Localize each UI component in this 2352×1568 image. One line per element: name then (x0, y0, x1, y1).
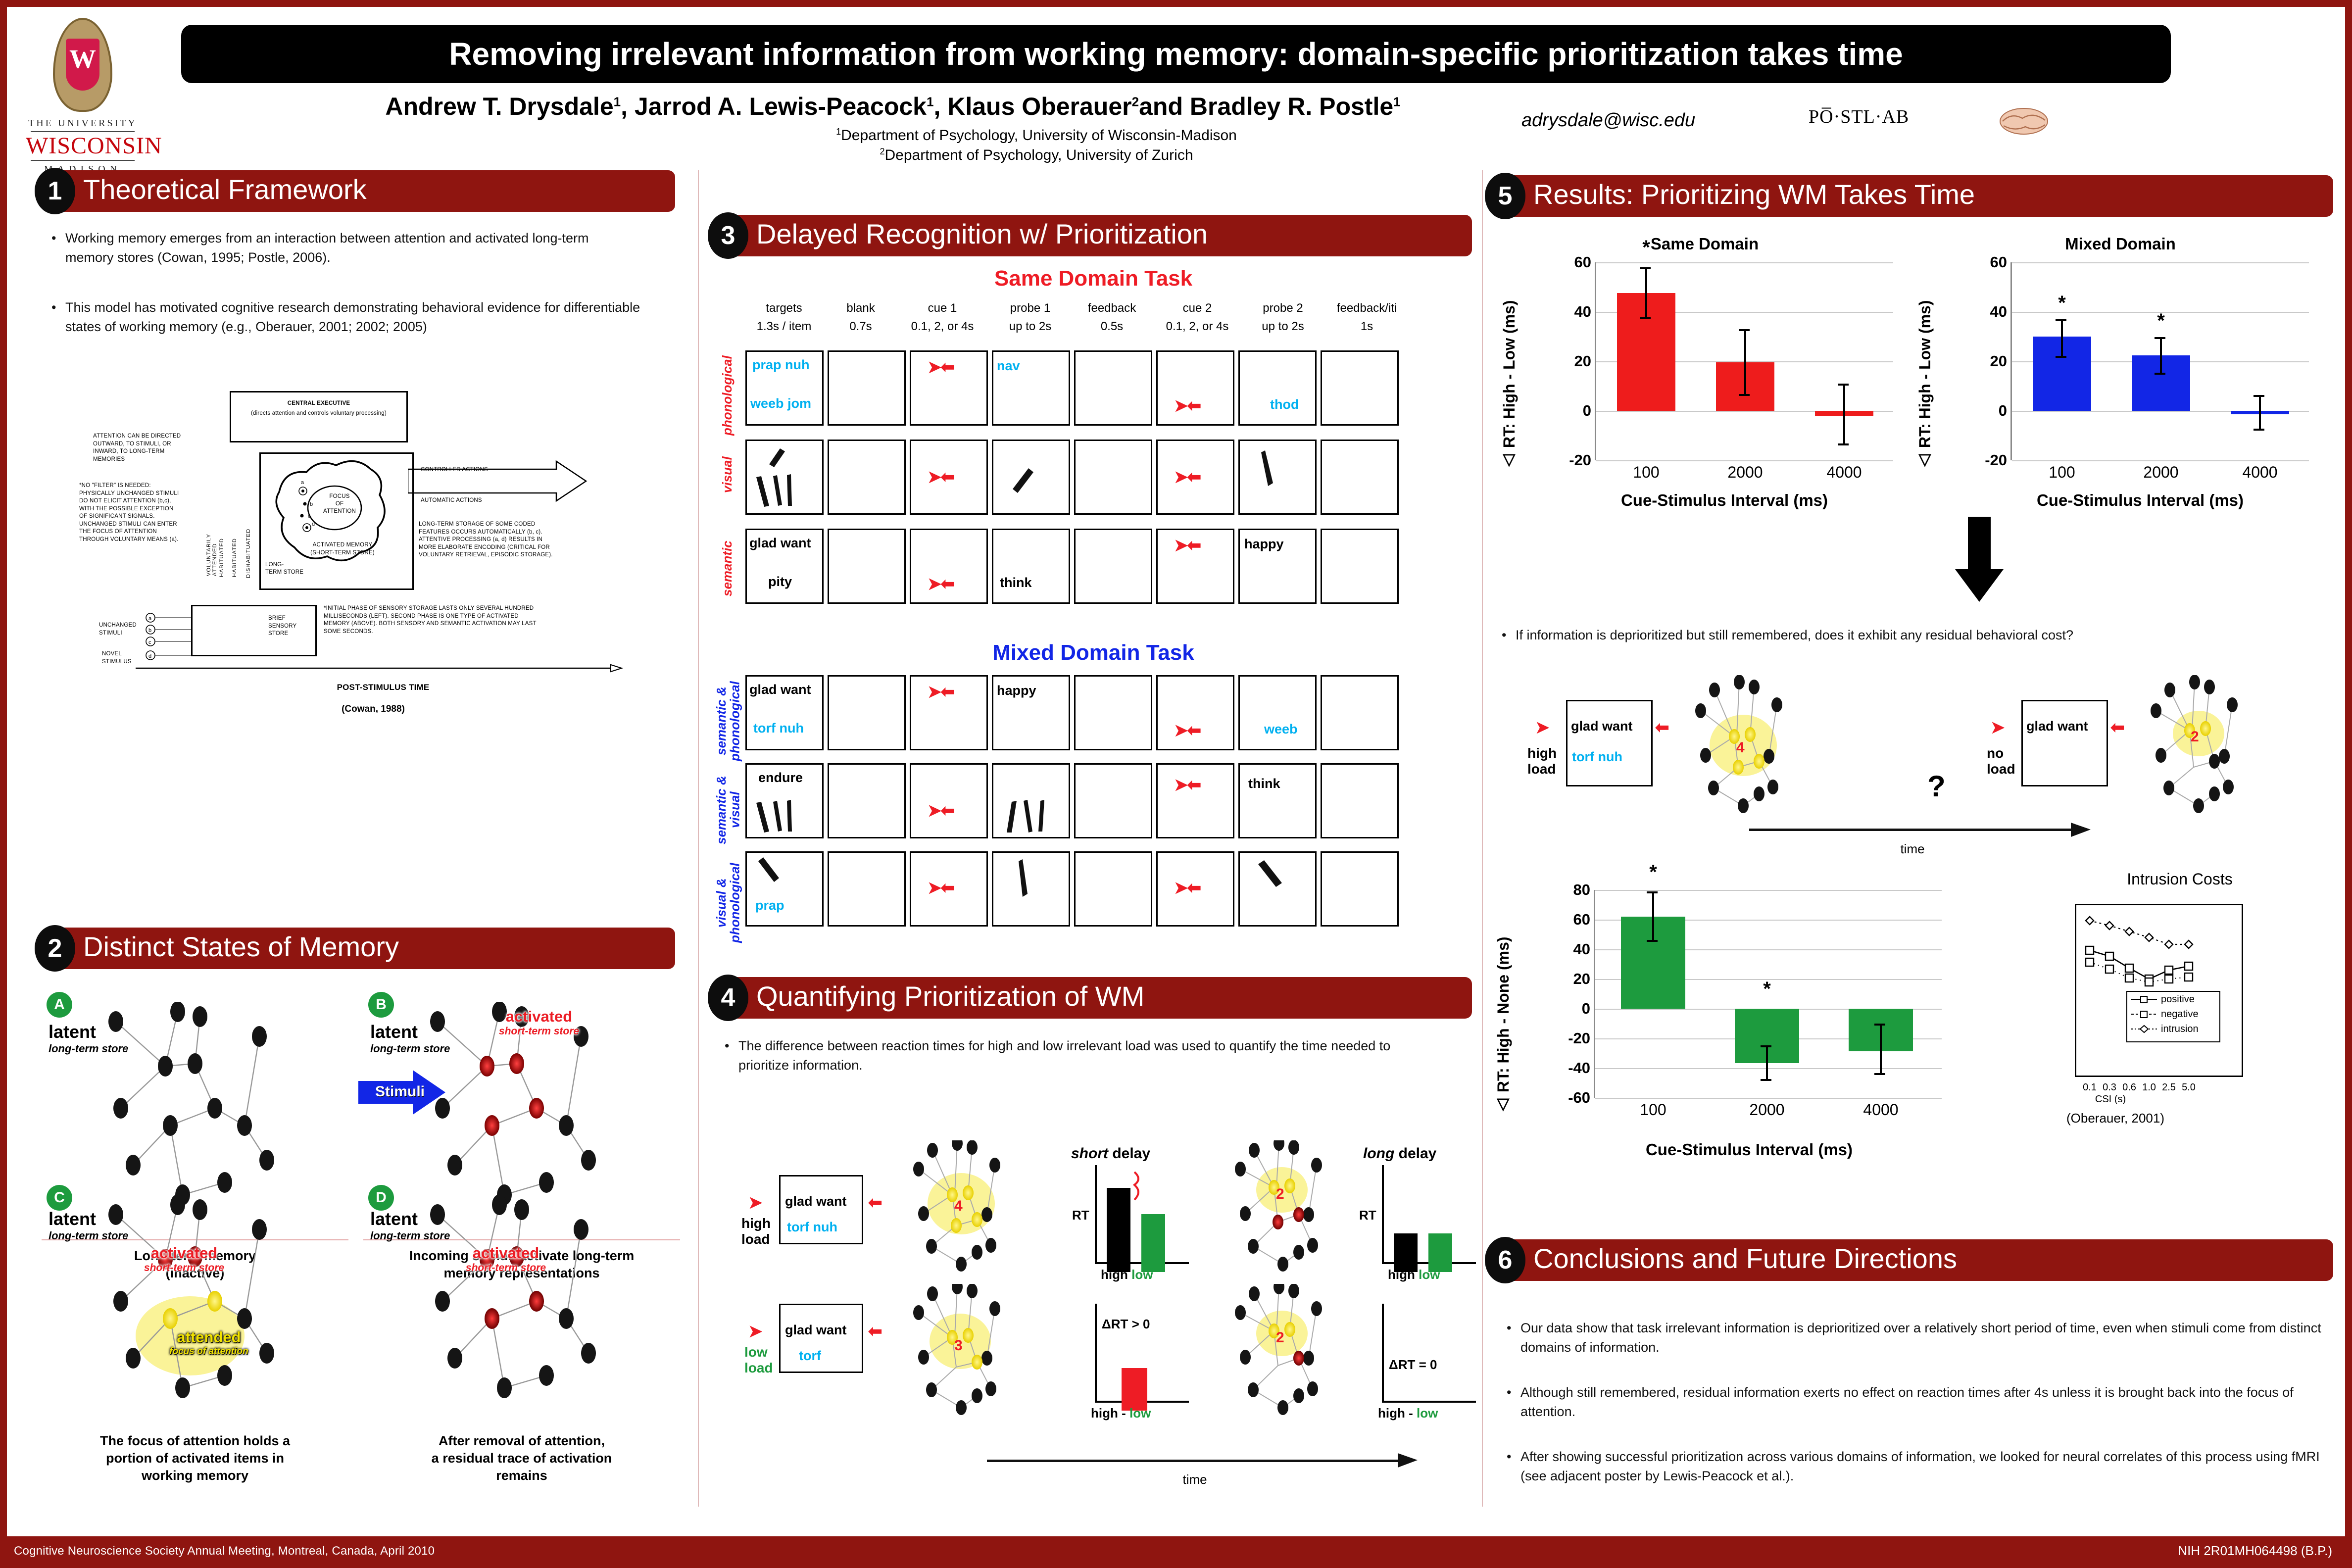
col-header-probe-1: probe 1up to 2s (989, 299, 1071, 336)
mixed-r1-probe2: weeb (1264, 722, 1298, 737)
same-r1-c8 (1321, 350, 1399, 426)
no-filter-note: *NO "FILTER" IS NEEDED: PHYSICALLY UNCHA… (79, 482, 183, 543)
mixed-r1-cue2-arrows: ➤⬅ (1174, 721, 1200, 740)
brief-sensory-store-label: BRIEFSENSORYSTORE (268, 615, 296, 638)
mixed-r3-c8 (1321, 851, 1399, 927)
section-4-title: Quantifying Prioritization of WM (756, 980, 1144, 1012)
controlled-actions-label: CONTROLLED ACTIONS (421, 466, 488, 474)
svg-text:a: a (148, 616, 152, 622)
chart-3-ytick-0: 0 (1582, 1000, 1590, 1018)
s4-low-load-box (779, 1304, 863, 1373)
same-r1-probe1: nav (997, 358, 1020, 374)
chart-3-plot: 80 60 40 20 0 -20 -40 -60 * * 100 2000 4… (1594, 890, 1940, 1098)
row-label-semantic-visual: semantic &visual (715, 769, 742, 851)
chart-3-ytick-80: 80 (1573, 881, 1590, 899)
col-header-probe-2: probe 2up to 2s (1243, 299, 1323, 336)
section-1-title: Theoretical Framework (83, 173, 367, 205)
svg-text:a: a (301, 480, 304, 486)
activated-memory-label: ACTIVATED MEMORY(SHORT-TERM STORE) (293, 541, 392, 557)
chart-2-ylabel: △ RT: High - Low (ms) (1915, 258, 1934, 471)
s4-high-load-label: highload (741, 1216, 771, 1247)
panel-tag-c: C (47, 1185, 72, 1211)
mixed-r2-c5 (1074, 763, 1152, 838)
chart-1-ytick-20: 20 (1574, 352, 1591, 370)
panel-tag-b: B (368, 992, 394, 1018)
stimulus-letters: a b c d (136, 608, 200, 662)
mixed-r2-c8 (1321, 763, 1399, 838)
cowan-1988-diagram: CENTRAL EXECUTIVE (directs attention and… (61, 383, 685, 710)
same-r2-probe2-bar (1254, 447, 1294, 492)
s5-time-label: time (1749, 841, 2076, 857)
chart-1-title: Same Domain (1502, 235, 1908, 253)
row-label-visual-phonological: visual &phonological (715, 858, 742, 947)
s5-no-words-top: glad want (2026, 719, 2088, 734)
s5-high-load-box (1566, 700, 1653, 786)
section-4-number: 4 (708, 975, 748, 1021)
chart-3-xlabel: Cue-Stimulus Interval (ms) (1541, 1140, 1957, 1159)
chart-1-xlabel: Cue-Stimulus Interval (ms) (1541, 491, 1908, 510)
mixed-r2-c6 (1156, 763, 1234, 838)
mixed-r3-probe2-bar (1253, 860, 1298, 900)
s4-low-arrow-right: ⬅ (868, 1322, 882, 1341)
habituated-label-2: HABITUATED (232, 532, 238, 577)
chart-4-xtick-2: 0.3 (2103, 1082, 2116, 1093)
s4-short-delay-label: short delay (1071, 1145, 1150, 1162)
contact-email[interactable]: adrysdale@wisc.edu (1521, 110, 1695, 131)
same-r2-c8 (1321, 440, 1399, 515)
s4-low-long-count: 2 (1276, 1329, 1284, 1346)
s4-high-long-count: 2 (1276, 1186, 1284, 1202)
section-3-number: 3 (708, 212, 748, 259)
s5-no-load-label: noload (1987, 745, 2015, 777)
mixed-r2-cue2-arrows: ➤⬅ (1174, 775, 1200, 795)
panel-tag-a: A (47, 992, 72, 1018)
s4-high-arrow-right: ⬅ (868, 1193, 882, 1213)
chart-4-title: Intrusion Costs (2026, 870, 2333, 888)
chart-3-ytick-20: 20 (1573, 970, 1590, 988)
chart-3-ytick--60: -60 (1568, 1089, 1590, 1107)
poster-footer: Cognitive Neuroscience Society Annual Me… (0, 1536, 2352, 1568)
same-r3-target-bottom: pity (768, 574, 792, 589)
author-list: Andrew T. Drysdale1, Jarrod A. Lewis-Pea… (274, 92, 1512, 121)
mixed-r2-target-top: endure (758, 770, 803, 785)
mixed-r1-c2 (828, 675, 906, 750)
same-r2-c2 (828, 440, 906, 515)
s4-low-load-label: lowload (744, 1344, 773, 1376)
s4-bar-high-long (1394, 1233, 1418, 1272)
s4-network-low-long: 2 (1225, 1284, 1373, 1422)
chart-1-ytick-60: 60 (1574, 253, 1591, 271)
crest-letter: W (53, 44, 112, 74)
university-logo: W THE UNIVERSITY WISCONSIN MADISON (26, 18, 140, 175)
s4-low-words-bottom: torf (799, 1348, 821, 1364)
mixed-r2-probe2: think (1248, 776, 1280, 791)
mixed-r3-probe1-bar (1012, 857, 1046, 902)
panel-c-attended-label: attendedfocus of attention (154, 1328, 263, 1357)
mixed-r3-cue2-arrows: ➤⬅ (1174, 878, 1200, 898)
s5-question-bullet: •If information is deprioritized but sti… (1502, 626, 2313, 645)
poster-canvas: W THE UNIVERSITY WISCONSIN MADISON Remov… (7, 7, 2345, 1536)
s5-no-load-box (2021, 700, 2108, 786)
down-arrow-icon (1952, 517, 2007, 606)
s4-low-arrow-left: ➤ (748, 1322, 762, 1341)
svg-text:d: d (148, 653, 151, 659)
same-r1-c5 (1074, 350, 1152, 426)
mixed-r1-c7 (1238, 675, 1317, 750)
section-5-number: 5 (1485, 173, 1525, 219)
poster-title: Removing irrelevant information from wor… (181, 25, 2171, 83)
chart-2-ytick-60: 60 (1990, 253, 2007, 271)
same-domain-task-title: Same Domain Task (715, 266, 1472, 291)
same-r2-cue1-arrows: ➤⬅ (928, 467, 954, 487)
divider (31, 131, 135, 132)
mixed-r1-c5 (1074, 675, 1152, 750)
affiliation-2: Department of Psychology, University of … (885, 147, 1193, 163)
same-r1-c7 (1238, 350, 1317, 426)
brain-icon (1997, 104, 2051, 139)
same-r2-c5 (1074, 440, 1152, 515)
chart-mixed-domain: Mixed Domain △ RT: High - Low (ms) 60 40… (1917, 235, 2323, 532)
chart-intrusion-costs: Intrusion Costs positive (2026, 868, 2333, 1175)
section-4-header: 4 Quantifying Prioritization of WM (715, 977, 1472, 1019)
chart-1-xtick-2: 2000 (1727, 463, 1763, 482)
column-divider-2 (1482, 170, 1483, 1507)
panel-tag-d: D (368, 1185, 394, 1211)
unchanged-stimuli-label: UNCHANGEDSTIMULI (99, 622, 137, 637)
mixed-r1-probe1: happy (997, 683, 1036, 698)
same-r3-c5 (1074, 529, 1152, 604)
mixed-r2-probe1-bars (1002, 799, 1066, 838)
same-r3-probe1: think (1000, 575, 1032, 590)
memory-panel-d: D latentlong-term store (363, 1185, 690, 1482)
s1-bullet-2: •This model has motivated cognitive rese… (51, 298, 645, 337)
affiliation-1: Department of Psychology, University of … (841, 127, 1237, 144)
chart-2-ytick--20: -20 (1985, 451, 2007, 469)
mixed-domain-task-title: Mixed Domain Task (715, 640, 1472, 665)
sensory-storage-note: *INITIAL PHASE OF SENSORY STORAGE LASTS … (324, 605, 541, 636)
chart-3-xtick-3: 4000 (1863, 1101, 1898, 1119)
same-r1-target-top: prap nuh (752, 357, 810, 373)
postle-lab-logo: PO̅·STL·AB (1809, 106, 1909, 128)
chart-1-ytick--20: -20 (1569, 451, 1591, 469)
chart-4-source: (Oberauer, 2001) (1962, 1111, 2269, 1126)
chart-1-plot: 60 40 20 0 -20 * 100 2000 4000 (1595, 262, 1892, 460)
s5-question-mark: ? (1927, 769, 1946, 803)
same-r1-target-bottom: weeb jom (750, 396, 811, 411)
chart-2-xtick-2: 2000 (2143, 463, 2178, 482)
s4-bullet-1: •The difference between reaction times f… (725, 1036, 1437, 1075)
same-r2-cue2-arrows: ➤⬅ (1174, 467, 1200, 487)
section-1-number: 1 (35, 168, 75, 214)
memory-panel-c: C latentlong-term store (42, 1185, 358, 1482)
voluntarily-attended-label: VOLUNTARILY ATTENDED (206, 502, 218, 576)
chart-1-sig-100: * (1642, 237, 1650, 259)
s4-delta-chart-short: ΔRT > 0 high - low (1076, 1304, 1190, 1413)
panel-b-activated-label: activatedshort-term store (487, 1008, 591, 1037)
s6-bullet-1: •Our data show that task irrelevant info… (1507, 1319, 2323, 1357)
col-header-cue-2: cue 20.1, 2, or 4s (1153, 299, 1242, 336)
chart-4-xtick-1: 0.1 (2083, 1082, 2097, 1093)
mixed-r2-c2 (828, 763, 906, 838)
chart-1-ytick-0: 0 (1583, 402, 1591, 420)
memory-node-letters: a b c d (279, 472, 378, 541)
s4-network-high-long: 2 (1225, 1140, 1373, 1284)
section-3-header: 3 Delayed Recognition w/ Prioritization (715, 215, 1472, 256)
post-stimulus-time-label: POST-STIMULUS TIME (136, 682, 631, 693)
footer-conference: Cognitive Neuroscience Society Annual Me… (14, 1544, 435, 1558)
panel-d-activated-label: activatedshort-term store (456, 1244, 555, 1274)
affiliations: 1Department of Psychology, University of… (640, 126, 1432, 165)
same-r3-cue1-arrows: ➤⬅ (928, 574, 954, 594)
mixed-r1-target-top: glad want (749, 682, 811, 697)
chart-2-xtick-3: 4000 (2242, 463, 2277, 482)
same-r3-cue2-arrows: ➤⬅ (1174, 536, 1200, 555)
chart-1-xtick-1: 100 (1633, 463, 1659, 482)
s4-time-label: time (987, 1472, 1403, 1487)
s4-high-arrow-left: ➤ (748, 1193, 762, 1213)
section-6-number: 6 (1485, 1237, 1525, 1283)
cowan-citation: (Cowan, 1988) (61, 704, 685, 715)
uw-crest-icon: W (53, 18, 112, 112)
chart-2-plot: 60 40 20 0 -20 * * 100 2000 4000 (2010, 262, 2307, 460)
network-graph-c (71, 1195, 348, 1427)
same-r3-c8 (1321, 529, 1399, 604)
university-name: WISCONSIN (26, 134, 140, 158)
network-graph-d (393, 1195, 680, 1427)
chart-4-xtick-6: 5.0 (2182, 1082, 2196, 1093)
s6-bullet-2: •Although still remembered, residual inf… (1507, 1383, 2323, 1421)
same-r2-probe1-bar (1007, 462, 1046, 497)
chart-3-xtick-1: 100 (1640, 1101, 1666, 1119)
s5-time-arrowhead (2071, 821, 2094, 840)
s5-high-count: 4 (1736, 739, 1745, 756)
col-header-feedback-iti: feedback/iti1s (1321, 299, 1413, 336)
svg-text:b: b (148, 628, 151, 634)
stimuli-label: Stimuli (375, 1083, 425, 1100)
s5-network-high: 4 (1685, 675, 1833, 819)
s4-network-high-short: 4 (903, 1140, 1051, 1284)
chart-4-xtick-3: 0.6 (2122, 1082, 2136, 1093)
chart-2-xtick-1: 100 (2049, 463, 2075, 482)
section-2-header: 2 Distinct States of Memory (42, 928, 675, 969)
legend-item-positive: positive (2127, 992, 2219, 1007)
s5-high-arrow-right: ⬅ (1655, 718, 1668, 737)
brief-sensory-store-box (191, 605, 317, 656)
svg-text:c: c (308, 513, 311, 519)
s4-bar-high-short (1107, 1188, 1130, 1272)
mixed-r1-target-bottom: torf nuh (753, 721, 804, 736)
column-divider-1 (698, 170, 699, 1507)
s4-rt-chart-short: RT high low (1076, 1165, 1190, 1274)
mixed-r3-target-bottom: prap (755, 898, 784, 913)
row-label-semantic-phonological: semantic &phonological (715, 674, 742, 768)
s6-bullet-3: •After showing successful prioritization… (1507, 1447, 2323, 1486)
col-header-blank: blank0.7s (824, 299, 898, 336)
panel-d-caption: After removal of attention, a residual t… (363, 1432, 680, 1484)
chart-3-ytick-60: 60 (1573, 911, 1590, 929)
chart-3-ytick--40: -40 (1568, 1059, 1590, 1077)
s4-low-short-count: 3 (954, 1337, 963, 1354)
chart-3-ytick--20: -20 (1568, 1029, 1590, 1047)
panel-c-activated-label: activatedshort-term store (135, 1244, 234, 1274)
same-r2-bars (749, 443, 821, 513)
s5-time-axis (1749, 829, 2076, 831)
chart-1-ylabel: △ RT: High - Low (ms) (1500, 258, 1519, 471)
chart-2-title: Mixed Domain (1917, 235, 2323, 253)
svg-text:c: c (148, 639, 151, 645)
chart-3-sig-100: * (1649, 861, 1657, 883)
chart-2-ytick-20: 20 (1990, 352, 2007, 370)
s5-none-count: 2 (2191, 729, 2199, 745)
row-label-visual: visual (720, 442, 735, 507)
same-r3-probe2: happy (1244, 537, 1284, 552)
panel-c-caption: The focus of attention holds a portion o… (42, 1432, 348, 1484)
chart-2-xlabel: Cue-Stimulus Interval (ms) (1957, 491, 2323, 510)
same-r1-probe2: thod (1270, 397, 1299, 412)
col-header-cue-1: cue 10.1, 2, or 4s (898, 299, 987, 336)
s4-high-short-count: 4 (954, 1198, 963, 1214)
mixed-r2-c7 (1238, 763, 1317, 838)
dishabituated-label: DISHABITUATED (245, 527, 251, 578)
s4-network-low-short: 3 (903, 1284, 1051, 1422)
author-1: Andrew T. Drysdale (385, 93, 613, 120)
s4-time-arrowhead (1398, 1451, 1421, 1471)
section-1-header: 1 Theoretical Framework (42, 170, 675, 212)
long-term-store-label: LONG-TERM STORE (265, 561, 315, 576)
s4-bar-low-short (1141, 1214, 1165, 1272)
chart-high-none: △ RT: High - None (ms) 80 60 40 20 0 -20… (1492, 873, 1987, 1180)
chart-4-legend: positive negative intrusion (2126, 991, 2220, 1042)
chart-2-sig-100: * (2058, 292, 2066, 314)
section-6-header: 6 Conclusions and Future Directions (1492, 1239, 2333, 1281)
chart-3-sig-2000: * (1763, 978, 1771, 1000)
chart-2-ytick-0: 0 (1999, 402, 2007, 420)
section-3-title: Delayed Recognition w/ Prioritization (756, 218, 1208, 250)
s4-bar-low-long (1428, 1233, 1452, 1272)
chart-3-ylabel: △ RT: High - None (ms) (1494, 883, 1513, 1116)
author-3: Klaus Oberauer (947, 93, 1131, 120)
same-r3-target-top: glad want (749, 536, 811, 551)
legend-item-intrusion: intrusion (2127, 1022, 2219, 1036)
s4-high-words-bottom: torf nuh (787, 1220, 837, 1235)
chart-4-xlabel: CSI (s) (1957, 1094, 2264, 1105)
central-executive-title: CENTRAL EXECUTIVE (235, 400, 403, 408)
author-4: Bradley R. Postle (1190, 93, 1393, 120)
central-executive-sub: (directs attention and controls voluntar… (236, 410, 402, 418)
svg-text:d: d (312, 521, 315, 527)
chart-1-xtick-3: 4000 (1826, 463, 1862, 482)
s5-high-words-top: glad want (1571, 719, 1633, 734)
footer-grant: NIH 2R01MH064498 (B.P.) (2178, 1543, 2332, 1559)
row-label-phonological: phonological (720, 353, 735, 438)
divider (31, 160, 135, 161)
svg-text:b: b (310, 501, 313, 507)
col-header-feedback: feedback0.5s (1071, 299, 1153, 336)
s4-low-words-top: glad want (785, 1323, 847, 1338)
mixed-r3-cue1-arrows: ➤⬅ (928, 878, 954, 898)
section-6-title: Conclusions and Future Directions (1533, 1242, 1957, 1274)
chart-4-xtick-5: 2.5 (2162, 1082, 2176, 1093)
mixed-r3-c2 (828, 851, 906, 927)
chart-4-xtick-4: 1.0 (2142, 1082, 2156, 1093)
s5-no-arrow-right: ⬅ (2110, 718, 2124, 737)
section-2-title: Distinct States of Memory (83, 931, 399, 963)
mixed-r3-c5 (1074, 851, 1152, 927)
s4-high-words-top: glad want (785, 1194, 847, 1209)
chart-2-ytick-40: 40 (1990, 303, 2007, 321)
same-r1-c2 (828, 350, 906, 426)
long-term-storage-note: LONG-TERM STORAGE OF SOME CODED FEATURES… (419, 521, 557, 559)
s4-long-delay-label: long delay (1363, 1145, 1436, 1162)
same-r1-cue2-arrows: ➤⬅ (1174, 396, 1200, 416)
chart-2-sig-2000: * (2157, 310, 2165, 332)
s1-bullet-1: •Working memory emerges from an interact… (51, 229, 636, 267)
chart-4-series (2075, 904, 2243, 1077)
chart-same-domain: Same Domain △ RT: High - Low (ms) 60 40 … (1502, 235, 1908, 532)
novel-stimulus-label: NOVELSTIMULUS (102, 650, 132, 666)
s4-delta-chart-long: ΔRT = 0 high - low (1363, 1304, 1477, 1413)
mixed-r3-bar (753, 855, 798, 890)
time-axis-arrow (136, 663, 631, 677)
section-5-title: Results: Prioritizing WM Takes Time (1533, 178, 1975, 210)
attention-direction-note: ATTENTION CAN BE DIRECTED OUTWARD, TO ST… (93, 433, 192, 463)
s5-high-load-label: highload (1527, 745, 1557, 777)
same-r3-c2 (828, 529, 906, 604)
s5-high-words-bottom: torf nuh (1572, 749, 1622, 765)
mixed-r1-cue1-arrows: ➤⬅ (928, 682, 954, 702)
s5-network-none: 2 (2140, 675, 2289, 819)
mixed-r1-c8 (1321, 675, 1399, 750)
mixed-r2-bars (749, 799, 821, 838)
s5-no-arrow-left: ➤ (1991, 718, 2004, 737)
chart-3-xtick-2: 2000 (1749, 1101, 1784, 1119)
university-line1: THE UNIVERSITY (26, 118, 140, 129)
same-r1-cue1-arrows: ➤⬅ (928, 357, 954, 377)
author-2: Jarrod A. Lewis-Peacock (635, 93, 927, 120)
same-r3-c4 (992, 529, 1070, 604)
col-header-targets: targets1.3s / item (744, 299, 824, 336)
chart-1-ytick-40: 40 (1574, 303, 1591, 321)
legend-item-negative: negative (2127, 1007, 2219, 1022)
s4-time-axis (987, 1460, 1403, 1462)
mixed-r2-cue1-arrows: ➤⬅ (928, 801, 954, 821)
habituated-label-1: HABITUATED (219, 532, 225, 577)
section-2-number: 2 (35, 925, 75, 972)
s5-high-arrow-left: ➤ (1535, 718, 1549, 737)
automatic-actions-label: AUTOMATIC ACTIONS (421, 497, 482, 505)
section-5-header: 5 Results: Prioritizing WM Takes Time (1492, 175, 2333, 217)
s4-rt-chart-long: RT high low (1363, 1165, 1477, 1274)
s4-bar-delta-short (1122, 1368, 1147, 1411)
row-label-semantic: semantic (720, 532, 735, 606)
chart-3-ytick-40: 40 (1573, 940, 1590, 958)
